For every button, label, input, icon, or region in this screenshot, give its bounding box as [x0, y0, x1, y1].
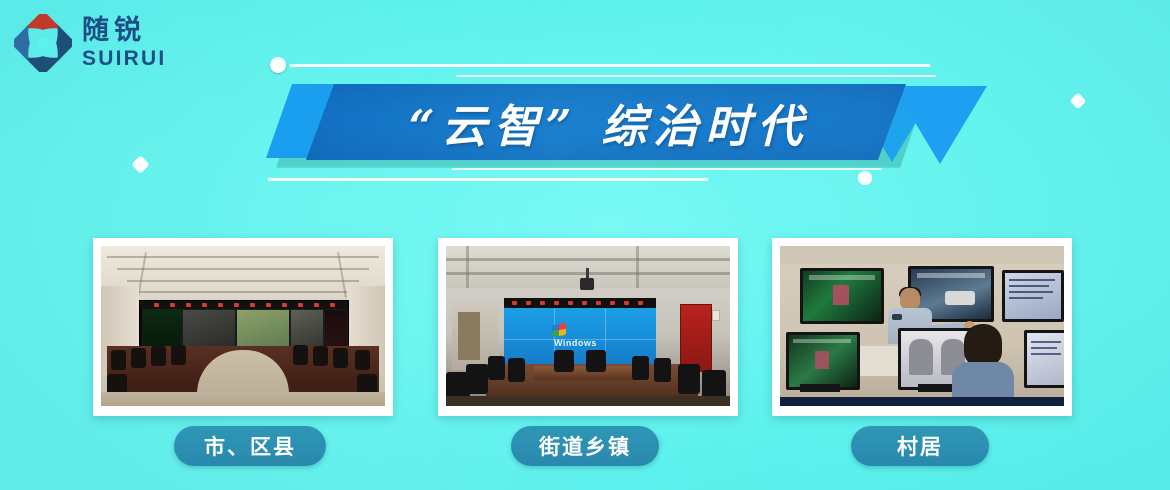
photo-frame: Windows [438, 238, 738, 416]
photo-frame [772, 238, 1072, 416]
slide-canvas: 随锐 SUIRUI “云智” 综治时代 [0, 0, 1170, 490]
brand-logo: 随锐 SUIRUI [14, 14, 166, 72]
decor-diamond-right-icon [1070, 93, 1087, 110]
label-city-district[interactable]: 市、区县 [174, 426, 326, 466]
card-row: 市、区县 [0, 238, 1170, 478]
brand-name-cn: 随锐 [82, 17, 166, 44]
title-banner: “云智” 综治时代 [258, 56, 948, 196]
banner-dot-top-icon [270, 57, 286, 73]
banner-dot-bottom-icon [858, 171, 872, 185]
page-title: “云智” 综治时代 [403, 90, 809, 155]
village-monitoring-room-photo [780, 246, 1064, 406]
banner-triangle-right-icon [893, 86, 987, 164]
card-village[interactable]: 村居 [772, 238, 1072, 416]
decor-diamond-left-icon [131, 155, 149, 173]
label-street-township[interactable]: 街道乡镇 [511, 426, 659, 466]
banner-line-bottom-2 [452, 168, 882, 170]
card-city-district[interactable]: 市、区县 [93, 238, 393, 416]
banner-plate: “云智” 综治时代 [306, 84, 906, 160]
city-district-command-center-photo [101, 246, 385, 406]
street-township-meeting-room-photo: Windows [446, 246, 730, 406]
label-village[interactable]: 村居 [851, 426, 989, 466]
brand-name-en: SUIRUI [82, 48, 166, 69]
banner-line-top-1 [290, 64, 930, 67]
card-street-township[interactable]: Windows [438, 238, 738, 416]
banner-line-bottom-1 [268, 178, 708, 181]
photo-frame [93, 238, 393, 416]
banner-line-top-2 [456, 75, 936, 77]
suirui-pinwheel-logo-icon [14, 14, 72, 72]
